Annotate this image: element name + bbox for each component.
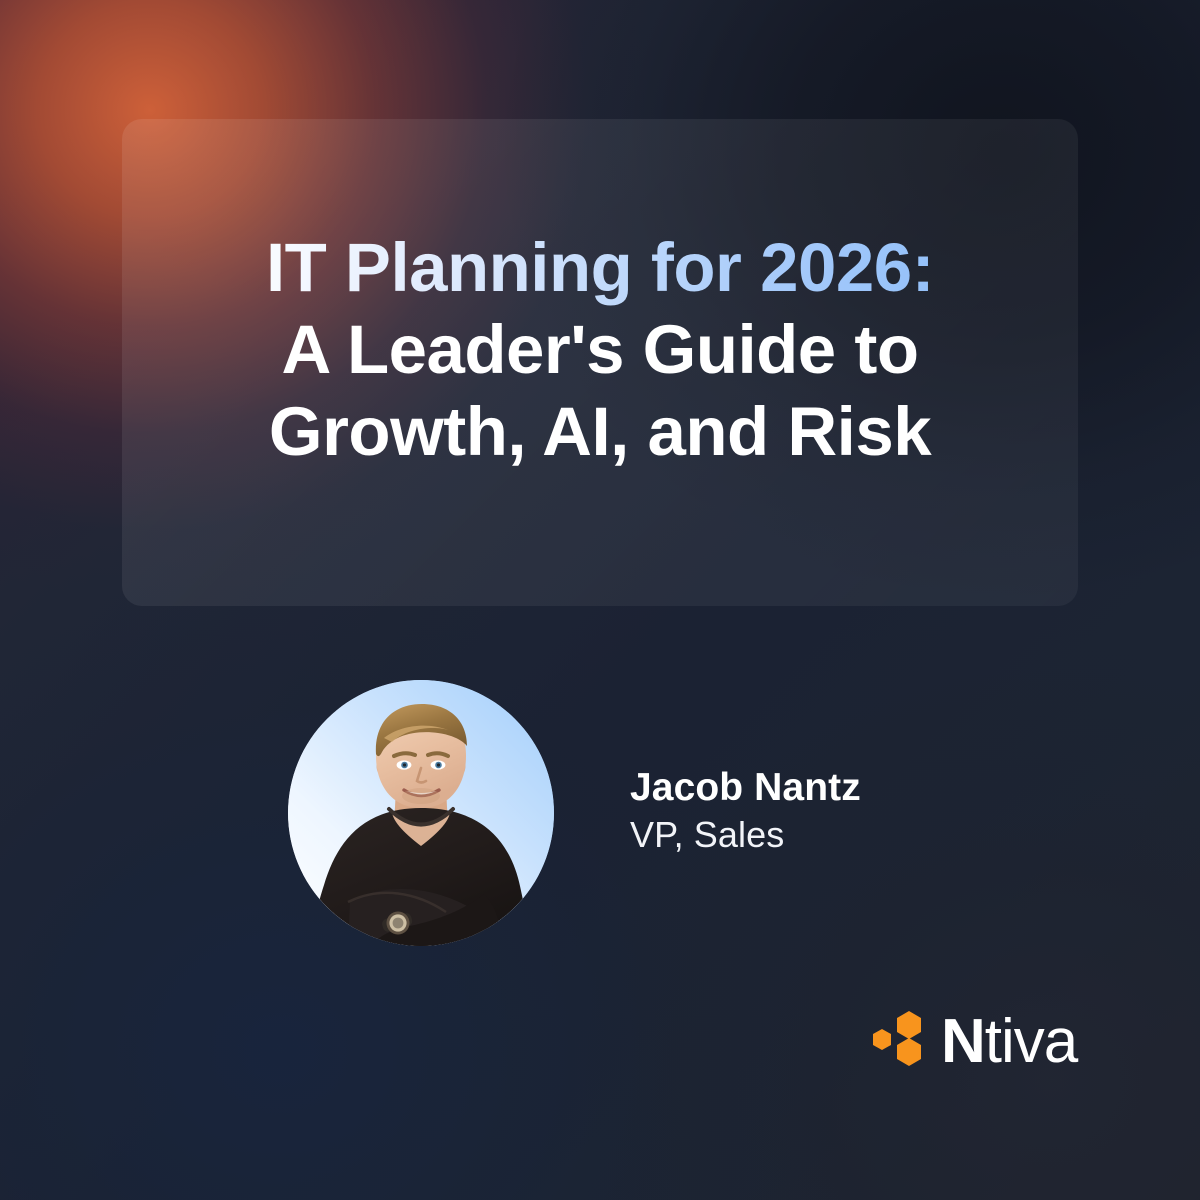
speaker-role: VP, Sales xyxy=(630,812,861,858)
title-card: IT Planning for 2026: A Leader's Guide t… xyxy=(122,119,1078,606)
avatar-illustration xyxy=(288,680,554,946)
brand-initial: N xyxy=(941,1007,985,1076)
brand-wordmark: Ntiva xyxy=(941,1008,1077,1076)
social-card: IT Planning for 2026: A Leader's Guide t… xyxy=(0,0,1200,1200)
page-title: IT Planning for 2026: A Leader's Guide t… xyxy=(122,227,1078,473)
title-line-1: IT Planning for 2026: xyxy=(148,227,1052,309)
avatar xyxy=(288,680,554,946)
brand-logo: Ntiva xyxy=(871,1008,1077,1076)
hexagon-logo-icon xyxy=(871,1008,937,1076)
title-line-2: A Leader's Guide to xyxy=(148,309,1052,391)
speaker-block: Jacob Nantz VP, Sales xyxy=(288,680,861,946)
speaker-name: Jacob Nantz xyxy=(630,763,861,812)
title-line-3: Growth, AI, and Risk xyxy=(148,391,1052,473)
brand-rest: tiva xyxy=(985,1007,1077,1076)
speaker-details: Jacob Nantz VP, Sales xyxy=(630,763,861,864)
